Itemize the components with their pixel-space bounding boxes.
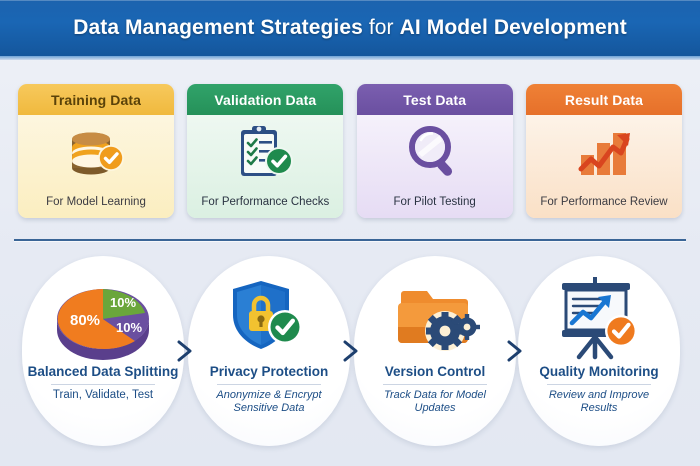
step-privacy-protection-subtitle: Anonymize & Encrypt Sensitive Data — [203, 389, 335, 415]
step-quality-monitoring-subtitle: Review and Improve Results — [533, 389, 665, 415]
page-title-part-2: for — [363, 16, 400, 39]
card-test-data-body: For Pilot Testing — [357, 115, 513, 218]
card-training-data-title: Training Data — [18, 84, 174, 115]
card-result-data[interactable]: Result Data For Performance Review — [526, 84, 682, 218]
card-result-data-body: For Performance Review — [526, 115, 682, 218]
page-title-part-3: AI Model Development — [400, 16, 627, 39]
folder-gears-icon — [387, 274, 483, 362]
card-test-data-caption: For Pilot Testing — [394, 196, 476, 210]
pie-label-10b: 10% — [116, 320, 142, 335]
step-rule — [383, 384, 487, 385]
bar-chart-arrow-icon — [571, 121, 637, 183]
magnifier-icon — [404, 121, 466, 183]
pie-label-80: 80% — [70, 312, 100, 329]
card-result-data-title: Result Data — [526, 84, 682, 115]
card-validation-data-title: Validation Data — [187, 84, 343, 115]
clipboard-check-icon — [233, 121, 297, 183]
step-rule — [547, 384, 651, 385]
chevron-right-icon-2 — [341, 338, 363, 364]
step-version-control-subtitle: Track Data for Model Updates — [369, 389, 501, 415]
step-balanced-data-splitting-subtitle: Train, Validate, Test — [53, 389, 153, 402]
strategy-step-row: 80% 10% 10% Balanced Data Splitting Trai… — [0, 256, 700, 456]
step-balanced-data-splitting[interactable]: 80% 10% 10% Balanced Data Splitting Trai… — [22, 256, 184, 446]
section-divider — [14, 239, 686, 241]
infographic-root: Data Management Strategies for AI Model … — [0, 0, 700, 466]
pie-label-10a: 10% — [110, 295, 136, 310]
pie-chart-icon: 80% 10% 10% — [49, 274, 157, 362]
card-result-data-caption: For Performance Review — [540, 196, 667, 210]
step-rule — [217, 384, 321, 385]
card-validation-data[interactable]: Validation Data — [187, 84, 343, 218]
card-test-data[interactable]: Test Data For Pilot Testing — [357, 84, 513, 218]
shield-lock-check-icon — [221, 274, 317, 362]
chevron-right-icon-3 — [505, 338, 527, 364]
step-version-control[interactable]: Version Control Track Data for Model Upd… — [354, 256, 516, 446]
page-title: Data Management Strategies for AI Model … — [73, 16, 627, 40]
step-privacy-protection[interactable]: Privacy Protection Anonymize & Encrypt S… — [188, 256, 350, 446]
step-privacy-protection-title: Privacy Protection — [210, 364, 329, 379]
page-title-part-1: Data Management Strategies — [73, 16, 363, 39]
page-header: Data Management Strategies for AI Model … — [0, 0, 700, 56]
card-training-data-body: For Model Learning — [18, 115, 174, 218]
card-training-data-caption: For Model Learning — [46, 196, 146, 210]
presentation-chart-check-icon — [549, 274, 649, 362]
chevron-right-icon-1 — [175, 338, 197, 364]
card-test-data-title: Test Data — [357, 84, 513, 115]
step-rule — [51, 384, 155, 385]
database-check-icon — [64, 121, 128, 183]
data-type-card-row: Training Data — [0, 84, 700, 220]
step-quality-monitoring[interactable]: Quality Monitoring Review and Improve Re… — [518, 256, 680, 446]
header-underline — [0, 56, 700, 60]
card-validation-data-caption: For Performance Checks — [201, 196, 329, 210]
step-balanced-data-splitting-title: Balanced Data Splitting — [28, 364, 179, 379]
step-quality-monitoring-title: Quality Monitoring — [539, 364, 658, 379]
card-training-data[interactable]: Training Data — [18, 84, 174, 218]
step-version-control-title: Version Control — [385, 364, 486, 379]
card-validation-data-body: For Performance Checks — [187, 115, 343, 218]
